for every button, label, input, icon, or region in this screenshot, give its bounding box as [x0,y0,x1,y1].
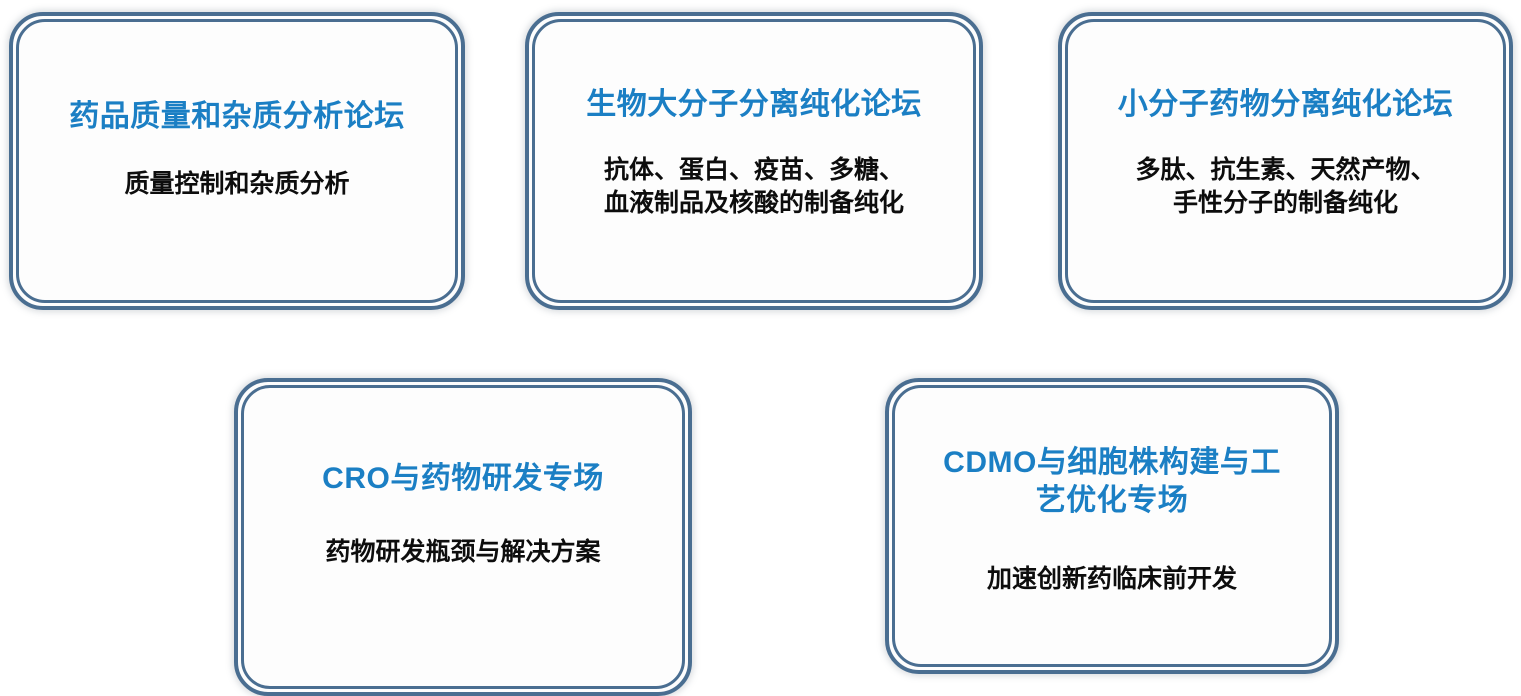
card-title: CDMO与细胞株构建与工 艺优化专场 [943,444,1281,521]
card-content: 药品质量和杂质分析论坛 质量控制和杂质分析 [13,16,461,306]
card-title: 生物大分子分离纯化论坛 [586,86,922,124]
card-subtitle: 加速创新药临床前开发 [987,563,1237,596]
card-subtitle: 多肽、抗生素、天然产物、 手性分子的制备纯化 [1135,154,1435,220]
card-drug-quality-impurity-forum[interactable]: 药品质量和杂质分析论坛 质量控制和杂质分析 [9,12,465,310]
card-content: CRO与药物研发专场 药物研发瓶颈与解决方案 [238,382,688,692]
card-small-molecule-separation-forum[interactable]: 小分子药物分离纯化论坛 多肽、抗生素、天然产物、 手性分子的制备纯化 [1058,12,1513,310]
card-title: 小分子药物分离纯化论坛 [1118,86,1454,124]
card-biomacromolecule-separation-forum[interactable]: 生物大分子分离纯化论坛 抗体、蛋白、疫苗、多糖、 血液制品及核酸的制备纯化 [525,12,983,310]
card-cro-drug-rd-session[interactable]: CRO与药物研发专场 药物研发瓶颈与解决方案 [234,378,692,696]
card-subtitle: 抗体、蛋白、疫苗、多糖、 血液制品及核酸的制备纯化 [604,154,904,220]
forum-cards-diagram: 药品质量和杂质分析论坛 质量控制和杂质分析 生物大分子分离纯化论坛 抗体、蛋白、… [0,0,1521,680]
card-cdmo-cellline-process-session[interactable]: CDMO与细胞株构建与工 艺优化专场 加速创新药临床前开发 [885,378,1339,674]
card-content: CDMO与细胞株构建与工 艺优化专场 加速创新药临床前开发 [889,382,1335,670]
card-subtitle: 质量控制和杂质分析 [124,168,349,201]
card-title: 药品质量和杂质分析论坛 [69,98,405,136]
card-content: 小分子药物分离纯化论坛 多肽、抗生素、天然产物、 手性分子的制备纯化 [1062,16,1509,306]
card-subtitle: 药物研发瓶颈与解决方案 [325,536,600,569]
card-title: CRO与药物研发专场 [322,460,604,498]
card-content: 生物大分子分离纯化论坛 抗体、蛋白、疫苗、多糖、 血液制品及核酸的制备纯化 [529,16,979,306]
